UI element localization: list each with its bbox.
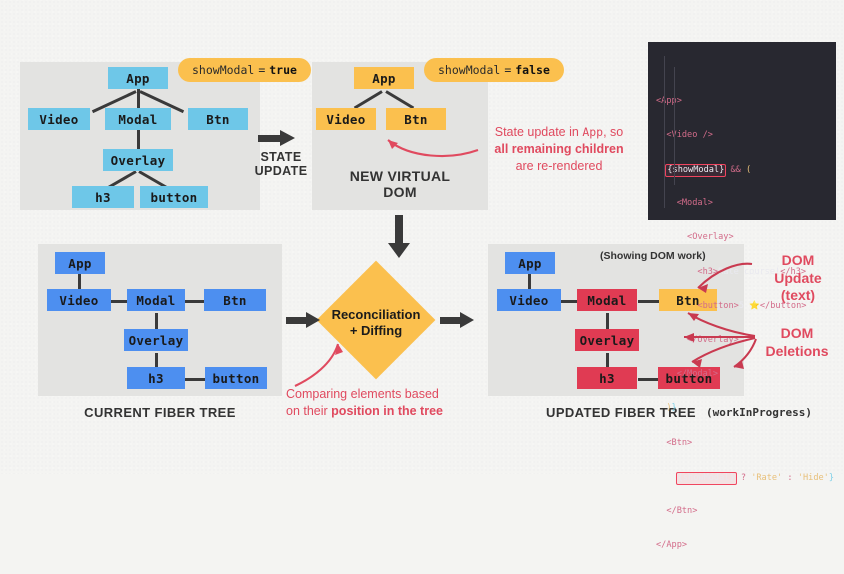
edge-modal-overlay bbox=[137, 129, 140, 151]
reconciliation-line1: Reconciliation bbox=[312, 307, 440, 323]
state-update-note: State update in App, so all remaining ch… bbox=[486, 124, 632, 175]
code-line-4: <Overlay> bbox=[656, 232, 828, 243]
fiber-edge-h3-button bbox=[184, 378, 206, 381]
state-update-arrow bbox=[258, 130, 298, 146]
dom-update-note: DOM Update (text) bbox=[756, 252, 840, 305]
vdom-before-node-modal: Modal bbox=[105, 108, 171, 130]
vdom-before-node-video: Video bbox=[28, 108, 90, 130]
state-update-note-arrow bbox=[330, 118, 480, 168]
cnl2a: on their bbox=[286, 404, 331, 418]
dom-update-line3: (text) bbox=[756, 287, 840, 305]
vdom-after-node-app: App bbox=[354, 67, 414, 89]
edge-app-modal bbox=[137, 88, 140, 110]
diamond-to-updated-arrow bbox=[440, 312, 478, 328]
comparing-note: Comparing elements based on their positi… bbox=[286, 386, 476, 420]
state-pill-false: showModal = false bbox=[424, 58, 564, 82]
comparing-note-arrow bbox=[290, 330, 380, 390]
code-line-2: {showModal} && ( bbox=[656, 164, 828, 175]
fiber-edge-modal-btn bbox=[183, 300, 205, 303]
snl1b: , so bbox=[603, 125, 623, 139]
new-virtual-dom-caption: NEW VIRTUAL DOM bbox=[320, 168, 480, 200]
current-fiber-node-btn: Btn bbox=[204, 289, 266, 311]
new-virtual-dom-caption-line1: NEW VIRTUAL bbox=[320, 168, 480, 184]
updated-fiber-node-video: Video bbox=[497, 289, 561, 311]
state-pill-true: showModal = true bbox=[178, 58, 311, 82]
state-update-note-line1: State update in App, so bbox=[486, 124, 632, 141]
dom-update-arrow bbox=[640, 256, 760, 300]
vdom-before-node-button: button bbox=[140, 186, 208, 208]
snl1a: State update in bbox=[495, 125, 583, 139]
current-fiber-node-modal: Modal bbox=[127, 289, 185, 311]
code-block: <App> <Video /> {showModal} && ( <Modal>… bbox=[648, 42, 836, 220]
state-pill-value: true bbox=[269, 63, 297, 77]
code-line-1: <Video /> bbox=[656, 130, 828, 141]
cnl2b: position in the tree bbox=[331, 404, 443, 418]
dom-deletions-line1: DOM bbox=[752, 325, 842, 343]
current-fiber-node-button: button bbox=[205, 367, 267, 389]
new-virtual-dom-caption-line2: DOM bbox=[320, 184, 480, 200]
state-update-note-line2: all remaining children bbox=[486, 141, 632, 158]
state-pill-false-value: false bbox=[515, 63, 550, 77]
dom-update-line2: Update bbox=[756, 270, 840, 288]
diagram-canvas: App Video Modal Btn Overlay h3 button sh… bbox=[0, 0, 844, 474]
code-line-3: <Modal> bbox=[656, 198, 828, 209]
updated-fiber-node-app: App bbox=[505, 252, 555, 274]
current-to-diamond-arrow bbox=[286, 312, 324, 328]
current-fiber-node-overlay: Overlay bbox=[124, 329, 188, 351]
code-line-13: </App> bbox=[656, 540, 828, 551]
state-pill-name: showModal bbox=[192, 63, 254, 77]
snl1-mono: App bbox=[582, 125, 603, 139]
vdom-before-node-btn: Btn bbox=[188, 108, 248, 130]
current-fiber-tree-caption: CURRENT FIBER TREE bbox=[38, 405, 282, 420]
state-update-line2: UPDATE bbox=[248, 164, 314, 178]
dom-deletions-line2: Deletions bbox=[752, 343, 842, 361]
comparing-note-line1: Comparing elements based bbox=[286, 386, 476, 403]
state-pill-false-eq: = bbox=[504, 63, 511, 77]
vdom-before-node-app: App bbox=[108, 67, 168, 89]
comparing-note-line2: on their position in the tree bbox=[286, 403, 476, 420]
code-line-12: </Btn> bbox=[656, 506, 828, 517]
dom-update-line1: DOM bbox=[756, 252, 840, 270]
current-fiber-node-video: Video bbox=[47, 289, 111, 311]
state-update-line1: STATE bbox=[248, 150, 314, 164]
state-pill-eq: = bbox=[258, 63, 265, 77]
code-line-9: )} bbox=[656, 403, 828, 414]
vdom-to-reconciliation-arrow bbox=[388, 215, 410, 259]
state-pill-false-name: showModal bbox=[438, 63, 500, 77]
dom-deletions-arrows bbox=[610, 300, 760, 390]
dom-deletions-note: DOM Deletions bbox=[752, 325, 842, 360]
vdom-before-node-overlay: Overlay bbox=[103, 149, 173, 171]
vdom-before-node-h3: h3 bbox=[72, 186, 134, 208]
code-line-0: <App> bbox=[656, 96, 828, 107]
code-line-10: <Btn> bbox=[656, 438, 828, 449]
state-update-note-line3: are re-rendered bbox=[486, 158, 632, 175]
current-fiber-node-h3: h3 bbox=[127, 367, 185, 389]
current-fiber-node-app: App bbox=[55, 252, 105, 274]
state-update-label: STATE UPDATE bbox=[248, 150, 314, 179]
